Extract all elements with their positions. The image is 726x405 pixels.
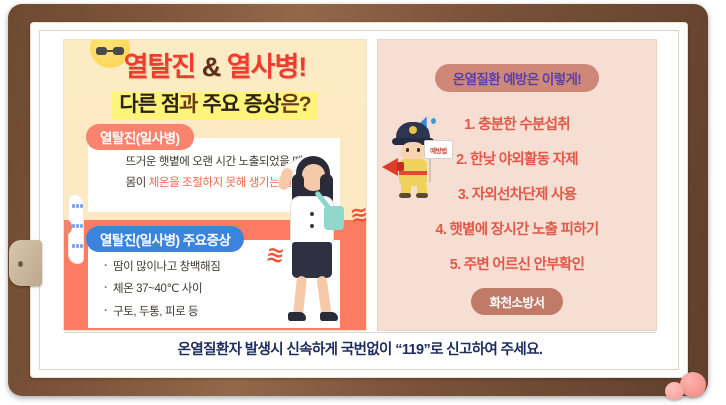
list-item: 4. 햇볕에 장시간 노출 피하기: [378, 211, 656, 246]
list-item: 2. 한낮 야외활동 자제: [378, 141, 656, 176]
subtitle-c: 주요 증상: [202, 93, 280, 116]
poster-panels: 열탈진 & 열사병! 다른 점과 주요 증상은? 열탈진(일사병) 뜨거운 햇볕…: [64, 40, 656, 330]
organization-badge-row: 화천소방서: [378, 288, 656, 315]
prevention-list: 1. 충분한 수분섭취 2. 한낮 야외활동 자제 3. 자외선차단제 사용 4…: [378, 106, 656, 281]
caption-divider: [64, 332, 656, 333]
poster-subtitle: 다른 점과 주요 증상은?: [112, 92, 317, 120]
right-panel: 온열질환 예방은 이렇게! 예방법: [378, 40, 656, 330]
list-item: 3. 자외선차단제 사용: [378, 176, 656, 211]
left-panel: 열탈진 & 열사병! 다른 점과 주요 증상은? 열탈진(일사병) 뜨거운 햇볕…: [64, 40, 366, 330]
list-item: 1. 충분한 수분섭취: [378, 106, 656, 141]
title-part-1: 열탈진: [124, 52, 196, 82]
screenshot-root: 열탈진 & 열사병! 다른 점과 주요 증상은? 열탈진(일사병) 뜨거운 햇볕…: [0, 0, 726, 405]
title-ampersand: &: [195, 52, 227, 82]
frame-clip-icon: [9, 240, 42, 286]
poster-subtitle-wrap: 다른 점과 주요 증상은?: [64, 92, 366, 120]
side-illustration-icon: [64, 190, 86, 268]
definition-line-2-plain: 몸이: [126, 177, 149, 189]
definition-badge-row: 열탈진(일사병): [86, 124, 194, 150]
prevention-header-row: 온열질환 예방은 이렇게!: [378, 64, 656, 92]
symptoms-badge-row: 열탈진(일사병) 주요증상: [86, 226, 244, 252]
subtitle-a: 다른 점: [119, 93, 179, 116]
poster: 열탈진 & 열사병! 다른 점과 주요 증상은? 열탈진(일사병) 뜨거운 햇볕…: [44, 34, 674, 366]
peach-decoration-small-icon: [665, 382, 684, 400]
symptoms-badge: 열탈진(일사병) 주요증상: [86, 226, 244, 252]
subtitle-d: 은?: [280, 93, 310, 116]
subtitle-b: 과: [179, 93, 202, 116]
organization-badge: 화천소방서: [471, 288, 562, 315]
woman-heat-exhaustion-illustration: ≋ ≋: [262, 150, 366, 330]
poster-caption: 온열질환자 발생시 신속하게 국번없이 “119”로 신고하여 주세요.: [64, 338, 656, 359]
peach-decoration-icon: [680, 372, 706, 397]
list-item: 5. 주변 어르신 안부확인: [378, 246, 656, 281]
definition-badge: 열탈진(일사병): [86, 124, 194, 150]
title-part-2: 열사병!: [227, 52, 307, 82]
prevention-header: 온열질환 예방은 이렇게!: [435, 64, 599, 92]
poster-title: 열탈진 & 열사병!: [64, 54, 366, 81]
